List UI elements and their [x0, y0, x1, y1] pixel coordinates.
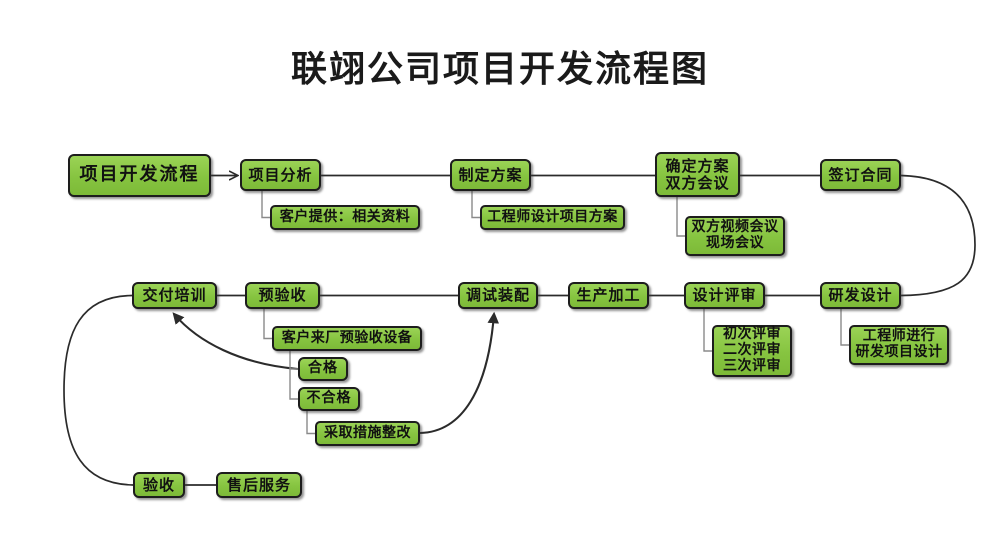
node-pre-acceptance[interactable]: 预验收 [245, 282, 320, 309]
edge-contract-rd [901, 176, 975, 296]
node-sign-contract[interactable]: 签订合同 [820, 159, 901, 191]
edge-confirm-note [677, 197, 685, 236]
node-design-review[interactable]: 设计评审 [684, 282, 765, 309]
edge-prenote-pass [290, 351, 298, 369]
node-engineer-rd-project-design[interactable]: 工程师进行 研发项目设计 [849, 325, 949, 365]
node-review-rounds[interactable]: 初次评审 二次评审 三次评审 [712, 325, 792, 377]
node-project-development-process[interactable]: 项目开发流程 [68, 154, 211, 197]
edge-review-note [704, 309, 712, 351]
node-engineer-designs-plan[interactable]: 工程师设计项目方案 [480, 205, 625, 230]
edge-rd-note [841, 309, 849, 345]
edge-delivery-acceptance [64, 296, 133, 486]
node-confirm-plan-bilateral-meeting[interactable]: 确定方案 双方会议 [655, 152, 740, 197]
node-production-processing[interactable]: 生产加工 [568, 282, 649, 309]
node-delivery-training[interactable]: 交付培训 [132, 282, 217, 309]
node-project-analysis[interactable]: 项目分析 [240, 159, 321, 191]
node-customer-provides-materials[interactable]: 客户提供：相关资料 [270, 205, 420, 230]
edge-analysis-note [262, 191, 270, 218]
node-take-corrective-measures[interactable]: 采取措施整改 [315, 421, 420, 446]
edge-plan-note [472, 191, 480, 218]
node-debug-assembly[interactable]: 调试装配 [458, 282, 538, 309]
edge-fail-rectify [307, 411, 315, 434]
flowchart-canvas: 联翊公司项目开发流程图 [0, 0, 1000, 541]
node-customer-visits-factory[interactable]: 客户来厂预验收设备 [272, 326, 422, 351]
node-formulate-plan[interactable]: 制定方案 [450, 159, 531, 191]
node-acceptance[interactable]: 验收 [133, 472, 185, 498]
node-qualified[interactable]: 合格 [298, 357, 348, 381]
edge-rectify-assemble [420, 314, 494, 433]
node-video-and-onsite-meeting[interactable]: 双方视频会议 现场会议 [685, 216, 785, 256]
node-after-sales-service[interactable]: 售后服务 [216, 472, 302, 498]
node-rd-design[interactable]: 研发设计 [820, 282, 901, 309]
page-title: 联翊公司项目开发流程图 [0, 40, 1000, 92]
edge-pass-fail [290, 369, 298, 399]
node-unqualified[interactable]: 不合格 [298, 387, 360, 411]
edge-preinspect-note [264, 309, 272, 339]
